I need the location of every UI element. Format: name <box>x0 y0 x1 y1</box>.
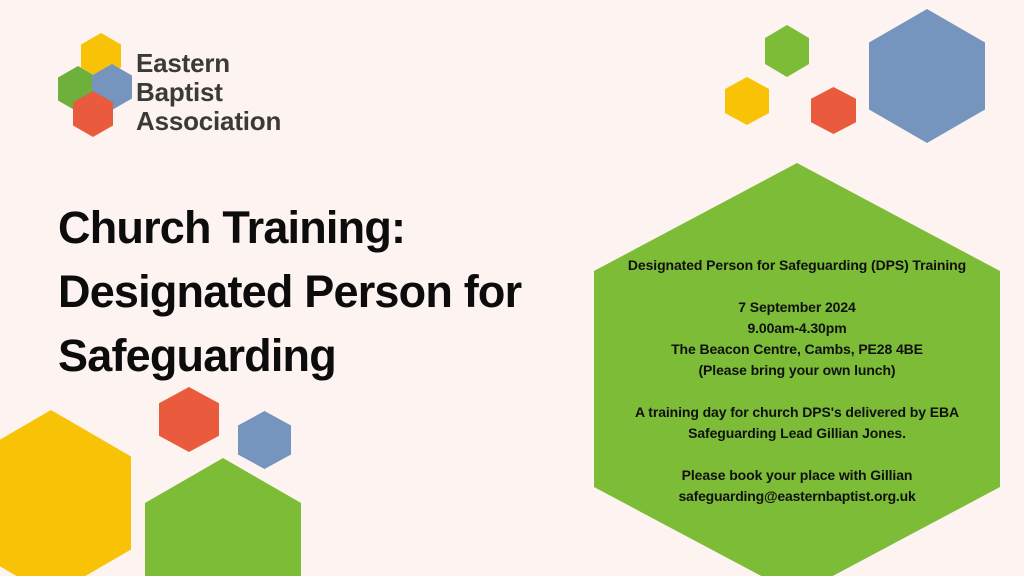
page-title-line-1: Church Training: <box>58 196 578 260</box>
logo-hexagon-cluster <box>58 33 132 135</box>
deco-hexagon-blue-bottom-left <box>238 411 291 469</box>
deco-hexagon-yellow-top-right <box>725 77 769 125</box>
event-time: 9.00am-4.30pm <box>594 318 1000 339</box>
logo-wordmark-line-2: Baptist <box>136 78 281 107</box>
event-description-line-1: A training day for church DPS's delivere… <box>594 402 1000 423</box>
event-panel-heading: Designated Person for Safeguarding (DPS)… <box>594 255 1000 276</box>
eba-logo: Eastern Baptist Association <box>58 33 288 137</box>
page-title-line-2: Designated Person for <box>58 260 578 324</box>
deco-hexagon-blue-top-right <box>869 9 985 143</box>
deco-hexagon-green-bottom-left <box>145 458 301 576</box>
event-venue: The Beacon Centre, Cambs, PE28 4BE <box>594 339 1000 360</box>
logo-wordmark-line-3: Association <box>136 107 281 136</box>
event-lunch-note: (Please bring your own lunch) <box>594 360 1000 381</box>
page-title: Church Training: Designated Person for S… <box>58 196 578 388</box>
panel-spacer-3 <box>594 444 1000 465</box>
booking-instruction: Please book your place with Gillian <box>594 465 1000 486</box>
page-title-line-3: Safeguarding <box>58 324 578 388</box>
event-description-line-2: Safeguarding Lead Gillian Jones. <box>594 423 1000 444</box>
event-date: 7 September 2024 <box>594 297 1000 318</box>
booking-email[interactable]: safeguarding@easternbaptist.org.uk <box>594 486 1000 507</box>
logo-wordmark-line-1: Eastern <box>136 49 281 78</box>
logo-wordmark: Eastern Baptist Association <box>136 49 281 136</box>
deco-hexagon-red-top-right <box>811 87 856 134</box>
flyer-canvas: Eastern Baptist Association Church Train… <box>0 0 1024 576</box>
deco-hexagon-red-bottom-left <box>159 387 219 452</box>
deco-hexagon-green-top-right <box>765 25 809 77</box>
panel-spacer-2 <box>594 381 1000 402</box>
deco-hexagon-yellow-bottom-left <box>0 410 131 576</box>
event-details-text: Designated Person for Safeguarding (DPS)… <box>594 255 1000 507</box>
panel-spacer-1 <box>594 276 1000 297</box>
